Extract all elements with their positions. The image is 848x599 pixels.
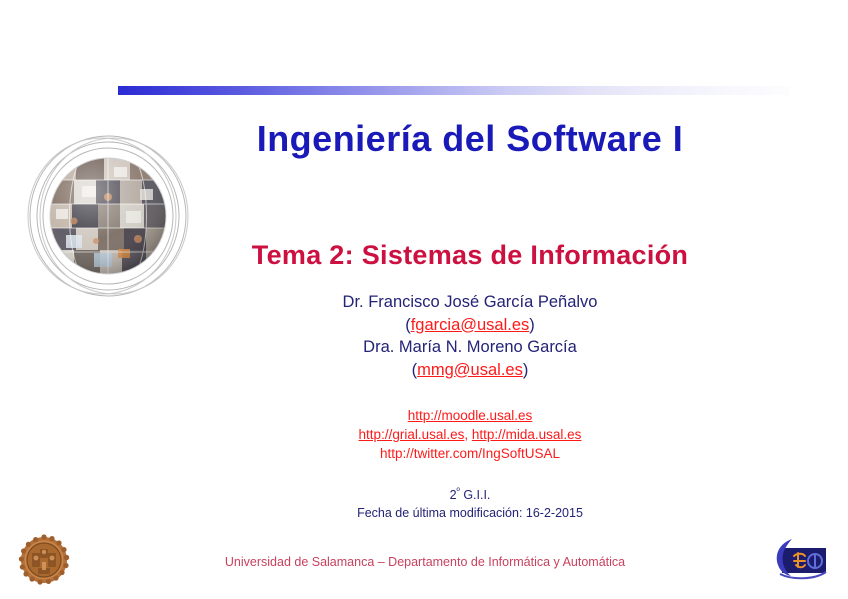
- email-link-fgarcia[interactable]: fgarcia@usal.es: [411, 316, 530, 334]
- link-twitter[interactable]: http://twitter.com/IngSoftUSAL: [380, 446, 560, 461]
- link-mida[interactable]: http://mida.usal.es: [472, 427, 582, 442]
- usal-seal-logo: [18, 532, 72, 588]
- paren-close-2: ): [523, 361, 529, 379]
- author-email-line-2: (mmg@usal.es): [120, 359, 820, 382]
- title-slide: Ingeniería del Software I Tema 2: Sistem…: [0, 0, 848, 599]
- dia-department-logo: [770, 536, 832, 584]
- last-modified-date: Fecha de última modificación: 16-2-2015: [120, 504, 820, 522]
- author-block: Dr. Francisco José García Peñalvo (fgarc…: [120, 291, 820, 381]
- url-line-moodle: http://moodle.usal.es: [120, 406, 820, 425]
- author-name-1: Dr. Francisco José García Peñalvo: [120, 291, 820, 314]
- course-info-block: 2º G.I.I. Fecha de última modificación: …: [120, 482, 820, 522]
- author-email-line-1: (fgarcia@usal.es): [120, 314, 820, 337]
- author-name-2: Dra. María N. Moreno García: [120, 336, 820, 359]
- url-line-grial-mida: http://grial.usal.es, http://mida.usal.e…: [120, 425, 820, 444]
- link-moodle[interactable]: http://moodle.usal.es: [408, 408, 533, 423]
- link-grial[interactable]: http://grial.usal.es: [359, 427, 465, 442]
- email-link-mmg[interactable]: mmg@usal.es: [417, 361, 523, 379]
- paren-close-1: ): [529, 316, 535, 334]
- gradient-rule-decoration: [118, 86, 790, 95]
- course-code: 2º G.I.I.: [120, 482, 820, 504]
- url-separator: ,: [464, 427, 472, 442]
- footer-institution: Universidad de Salamanca – Departamento …: [120, 555, 730, 569]
- url-block: http://moodle.usal.es http://grial.usal.…: [120, 406, 820, 463]
- course-degree-code: G.I.I.: [460, 488, 491, 502]
- url-line-twitter: http://twitter.com/IngSoftUSAL: [120, 444, 820, 463]
- topic-subtitle: Tema 2: Sistemas de Información: [120, 240, 820, 271]
- page-title: Ingeniería del Software I: [120, 118, 820, 160]
- course-year-number: 2: [450, 488, 457, 502]
